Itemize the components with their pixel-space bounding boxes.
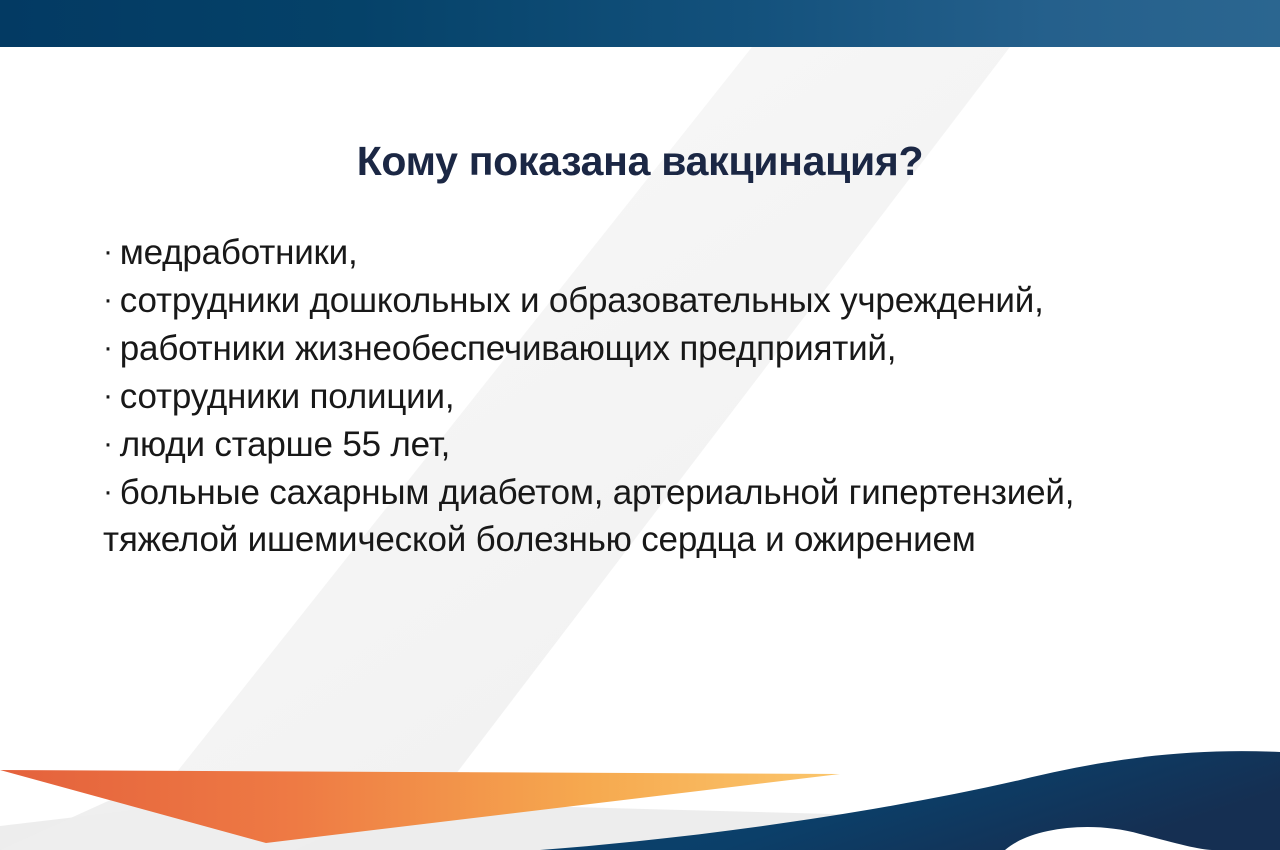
list-item: ·медработники, [103,228,1163,276]
bullet-list: ·медработники, ·сотрудники дошкольных и … [103,228,1163,563]
list-item: ·сотрудники полиции, [103,372,1163,420]
bullet-icon: · [103,331,120,364]
slide-canvas: Кому показана вакцинация? ·медработники,… [0,0,1280,850]
list-item: ·сотрудники дошкольных и образовательных… [103,276,1163,324]
list-item-label: больные сахарным диабетом, артериальной … [103,473,1074,559]
top-banner [0,0,1280,47]
bullet-icon: · [103,427,120,460]
list-item: ·больные сахарным диабетом, артериальной… [103,468,1163,563]
list-item-label: медработники, [120,233,358,272]
bullet-icon: · [103,475,120,508]
list-item: ·работники жизнеобеспечивающих предприят… [103,324,1163,372]
list-item-label: работники жизнеобеспечивающих предприяти… [120,329,897,368]
bullet-icon: · [103,379,120,412]
list-item: ·люди старше 55 лет, [103,420,1163,468]
bullet-icon: · [103,283,120,316]
list-item-label: сотрудники дошкольных и образовательных … [120,281,1044,320]
bullet-icon: · [103,235,120,268]
slide-content: Кому показана вакцинация? ·медработники,… [0,0,1280,850]
page-title: Кому показана вакцинация? [0,138,1280,185]
list-item-label: сотрудники полиции, [120,377,455,416]
list-item-label: люди старше 55 лет, [120,425,450,464]
